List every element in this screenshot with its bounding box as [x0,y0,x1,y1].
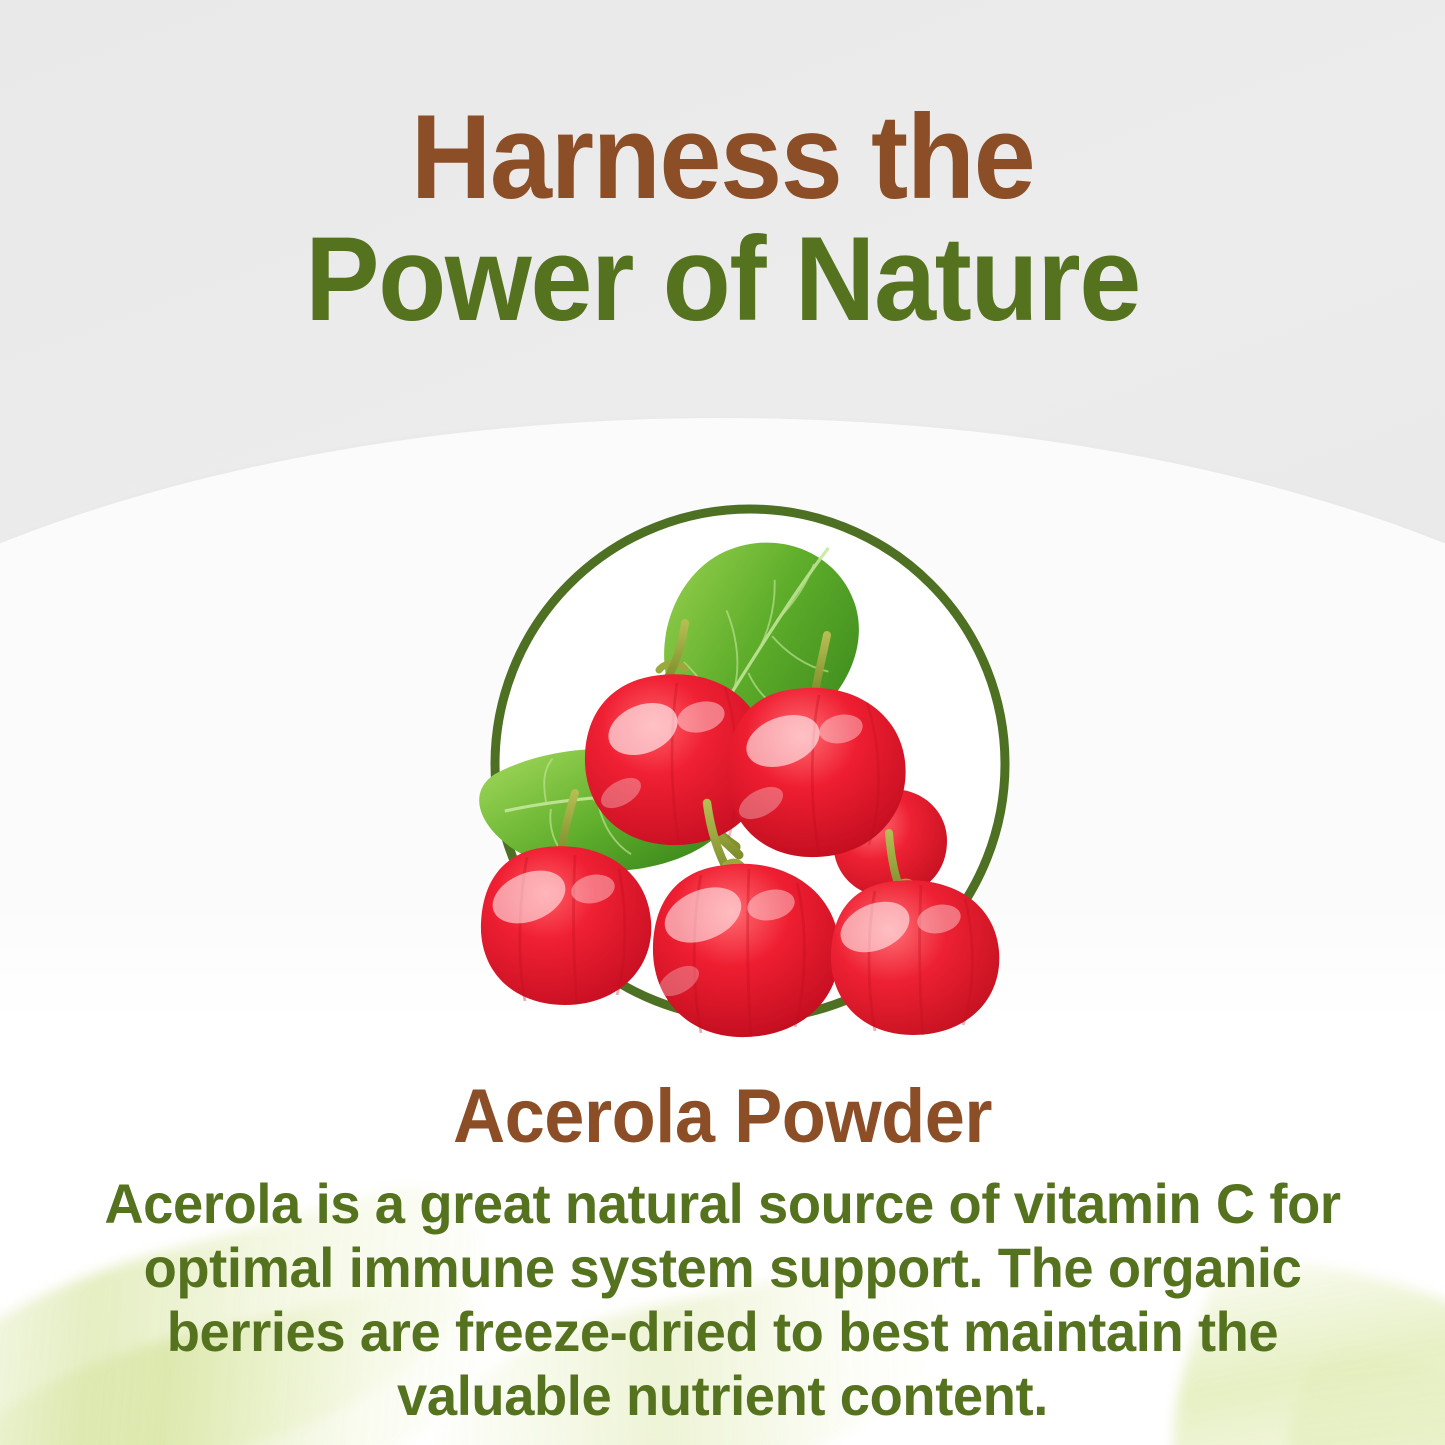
product-infographic: Harness the Power of Nature [0,0,1445,1445]
headline-line-1: Harness the [51,96,1395,218]
product-description: Acerola is a great natural source of vit… [70,1172,1375,1428]
headline-line-2: Power of Nature [51,218,1395,340]
acerola-cherries-illustration [489,503,1011,1025]
product-badge [489,503,1011,1025]
product-title: Acerola Powder [36,1073,1409,1160]
headline: Harness the Power of Nature [0,96,1445,341]
